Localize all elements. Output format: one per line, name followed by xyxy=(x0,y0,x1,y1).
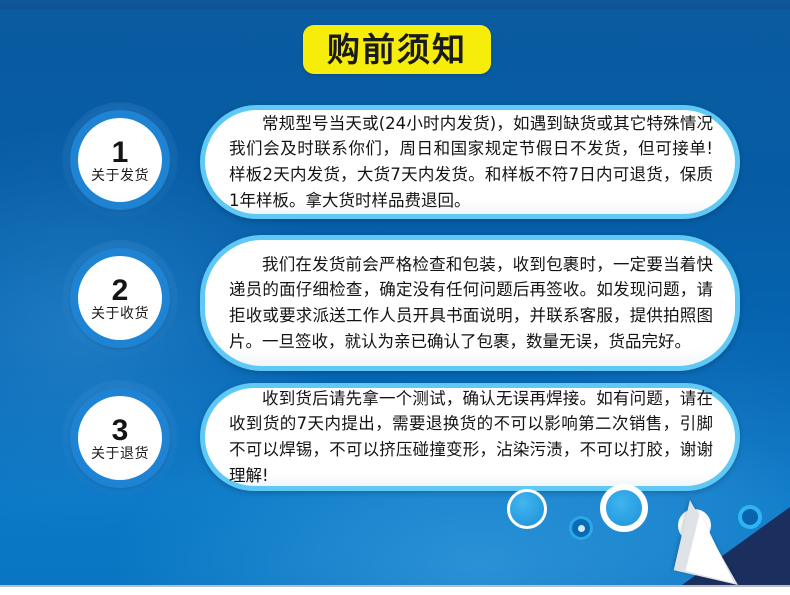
section-label-1: 关于发货 xyxy=(91,169,149,183)
section-number-2: 2 xyxy=(112,276,129,306)
notice-panel-3: 收到货后请先拿一个测试，确认无误再焊接。如有问题，请在收到货的7天内提出，需要退… xyxy=(200,383,740,491)
bottom-white-strip xyxy=(0,587,790,595)
section-badge-inner-1: 1 关于发货 xyxy=(78,118,162,202)
section-label-2: 关于收货 xyxy=(91,307,149,321)
notice-section-1: 1 关于发货 常规型号当天或(24小时内发货)，如遇到缺货或其它特殊情况我们会及… xyxy=(0,100,790,222)
section-number-1: 1 xyxy=(112,138,129,168)
notice-section-3: 3 关于退货 收到货后请先拿一个测试，确认无误再焊接。如有问题，请在收到货的7天… xyxy=(0,380,790,492)
section-badge-3: 3 关于退货 xyxy=(62,380,178,496)
notice-text-3: 收到货后请先拿一个测试，确认无误再焊接。如有问题，请在收到货的7天内提出，需要退… xyxy=(205,386,735,489)
section-number-3: 3 xyxy=(112,416,129,446)
section-badge-inner-3: 3 关于退货 xyxy=(78,396,162,480)
page-title-badge: 购前须知 xyxy=(303,25,491,74)
notice-text-1: 常规型号当天或(24小时内发货)，如遇到缺货或其它特殊情况我们会及时联系你们，周… xyxy=(205,111,735,214)
section-label-3: 关于退货 xyxy=(91,447,149,461)
notice-panel-2: 我们在发货前会严格检查和包装，收到包裹时，一定要当着快递员的面仔细检查，确定没有… xyxy=(200,235,740,371)
bubble-ring-filled-icon xyxy=(507,489,547,529)
notice-section-2: 2 关于收货 我们在发货前会严格检查和包装，收到包裹时，一定要当着快递员的面仔细… xyxy=(0,232,790,370)
bubble-target-small-icon xyxy=(569,516,593,540)
background-top-band xyxy=(0,0,790,10)
section-badge-ring-3: 3 关于退货 xyxy=(70,388,170,488)
page-title: 购前须知 xyxy=(327,33,467,66)
bubble-ring-large-icon xyxy=(600,484,648,532)
notice-banner: 购前须知 1 关于发货 常规型号当天或(24小时内发货)，如遇到缺货或其它特殊情… xyxy=(0,0,790,595)
section-badge-inner-2: 2 关于收货 xyxy=(78,256,162,340)
section-badge-1: 1 关于发货 xyxy=(62,102,178,218)
notice-text-2: 我们在发货前会严格检查和包装，收到包裹时，一定要当着快递员的面仔细检查，确定没有… xyxy=(205,252,735,355)
section-badge-ring-2: 2 关于收货 xyxy=(70,248,170,348)
section-badge-2: 2 关于收货 xyxy=(62,240,178,356)
notice-panel-1: 常规型号当天或(24小时内发货)，如遇到缺货或其它特殊情况我们会及时联系你们，周… xyxy=(200,105,740,219)
section-badge-ring-1: 1 关于发货 xyxy=(70,110,170,210)
